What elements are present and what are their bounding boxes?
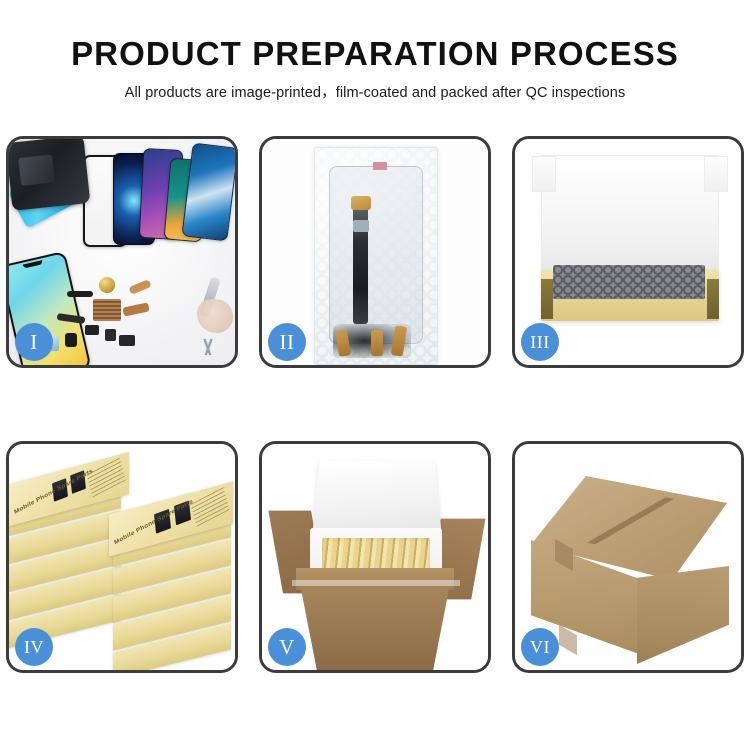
process-step-panel-3: III (512, 136, 744, 368)
process-step-panel-2: II (259, 136, 491, 368)
kraft-tray-image (541, 269, 719, 321)
spec-text-lines (86, 457, 125, 498)
carton-edge-highlight (292, 580, 460, 586)
carton-body-image (300, 584, 450, 670)
driver-chip (353, 220, 369, 232)
product-preparation-process-page: PRODUCT PREPARATION PROCESS All products… (0, 0, 750, 750)
process-step-panel-4: Mobile Phone Spare Parts Mobile Phone Sp… (6, 441, 238, 673)
spec-text-lines (190, 486, 229, 527)
flex-connector (351, 196, 371, 210)
battery-strip-part (67, 291, 93, 297)
qc-sticker (373, 162, 387, 170)
step-badge-1: I (15, 323, 53, 361)
foam-box-lid-image (312, 461, 441, 534)
step-badge-2: II (268, 323, 306, 361)
step-badge-6: VI (521, 628, 559, 666)
step-badge-4: IV (15, 628, 53, 666)
white-box-lid-image (541, 155, 719, 273)
step-badge-3: III (521, 323, 559, 361)
process-step-panel-5: V (259, 441, 491, 673)
screen-assembly-image (329, 166, 423, 344)
page-subtitle: All products are image-printed，film-coat… (0, 83, 750, 103)
header: PRODUCT PREPARATION PROCESS All products… (0, 0, 750, 103)
bubble-wrapped-contents (553, 265, 705, 299)
step-badge-5: V (268, 628, 306, 666)
tray-side-left (541, 279, 553, 319)
chip-part-b (105, 329, 116, 341)
process-step-panel-6: VI (512, 441, 744, 673)
logic-board-image (9, 139, 90, 211)
connector-tab-b (371, 330, 383, 356)
tray-side-right (707, 279, 719, 319)
chip-part-a (85, 325, 99, 335)
camera-module-part (65, 333, 77, 347)
vibration-motor-part (99, 277, 115, 293)
hand-image (197, 299, 233, 333)
process-step-grid: I II (6, 136, 744, 673)
process-step-panel-1: I (6, 136, 238, 368)
speaker-part (119, 335, 135, 346)
bubble-wrap-bag-image (314, 147, 438, 365)
screw-grid-part (93, 299, 121, 321)
screwdriver-pair-part (195, 339, 221, 355)
page-title: PRODUCT PREPARATION PROCESS (0, 34, 750, 74)
